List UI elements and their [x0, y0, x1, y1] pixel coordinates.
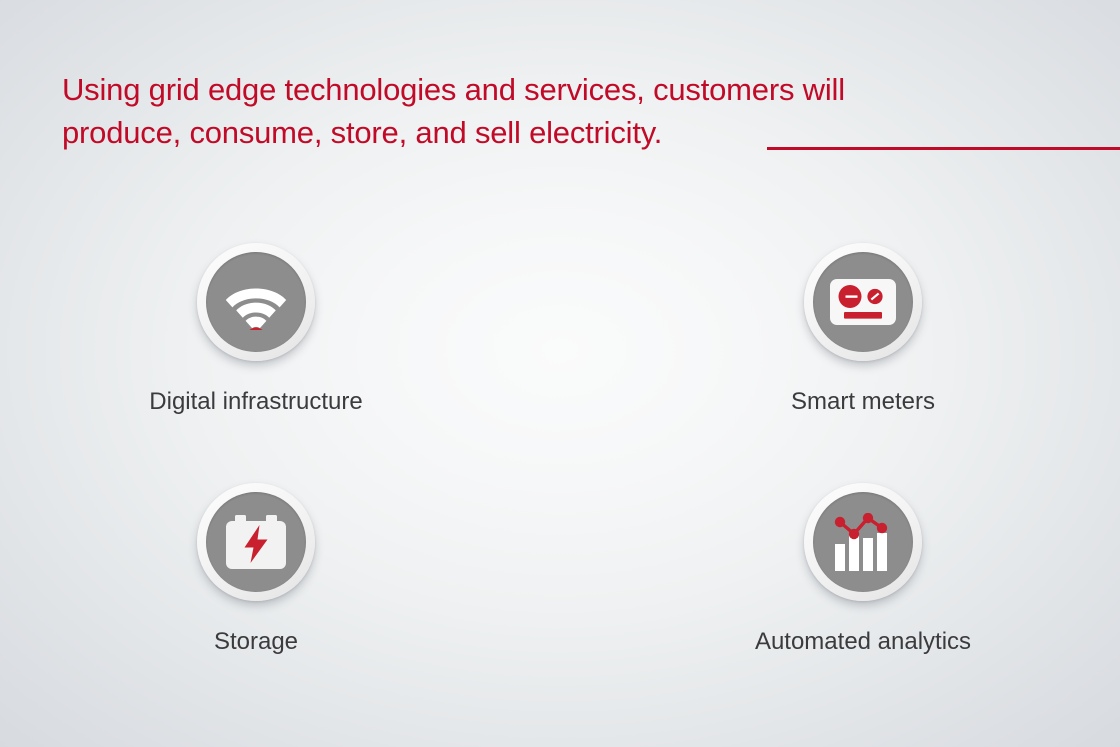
smart-meter-icon	[830, 279, 896, 325]
icon-disc	[813, 492, 913, 592]
icon-badge	[197, 483, 315, 601]
icon-disc	[206, 252, 306, 352]
battery-bolt-icon	[226, 515, 286, 569]
feature-label: Storage	[126, 627, 386, 657]
page-title: Using grid edge technologies and service…	[62, 68, 982, 154]
headline-line-1: Using grid edge technologies and service…	[62, 68, 982, 111]
icon-badge	[804, 483, 922, 601]
wifi-signal-icon	[225, 274, 287, 330]
feature-label: Digital infrastructure	[126, 387, 386, 417]
icon-disc	[206, 492, 306, 592]
feature-label: Smart meters	[733, 387, 993, 417]
feature-item-automated-analytics[interactable]: Automated analytics	[733, 483, 993, 657]
icon-badge	[804, 243, 922, 361]
headline-rule-divider	[767, 147, 1120, 150]
feature-label: Automated analytics	[733, 627, 993, 657]
icon-disc	[813, 252, 913, 352]
slide-canvas: Using grid edge technologies and service…	[0, 0, 1120, 747]
feature-item-digital-infrastructure[interactable]: Digital infrastructure	[126, 243, 386, 417]
icon-badge	[197, 243, 315, 361]
feature-item-storage[interactable]: Storage	[126, 483, 386, 657]
feature-item-smart-meters[interactable]: Smart meters	[733, 243, 993, 417]
bar-line-chart-icon	[832, 513, 894, 571]
